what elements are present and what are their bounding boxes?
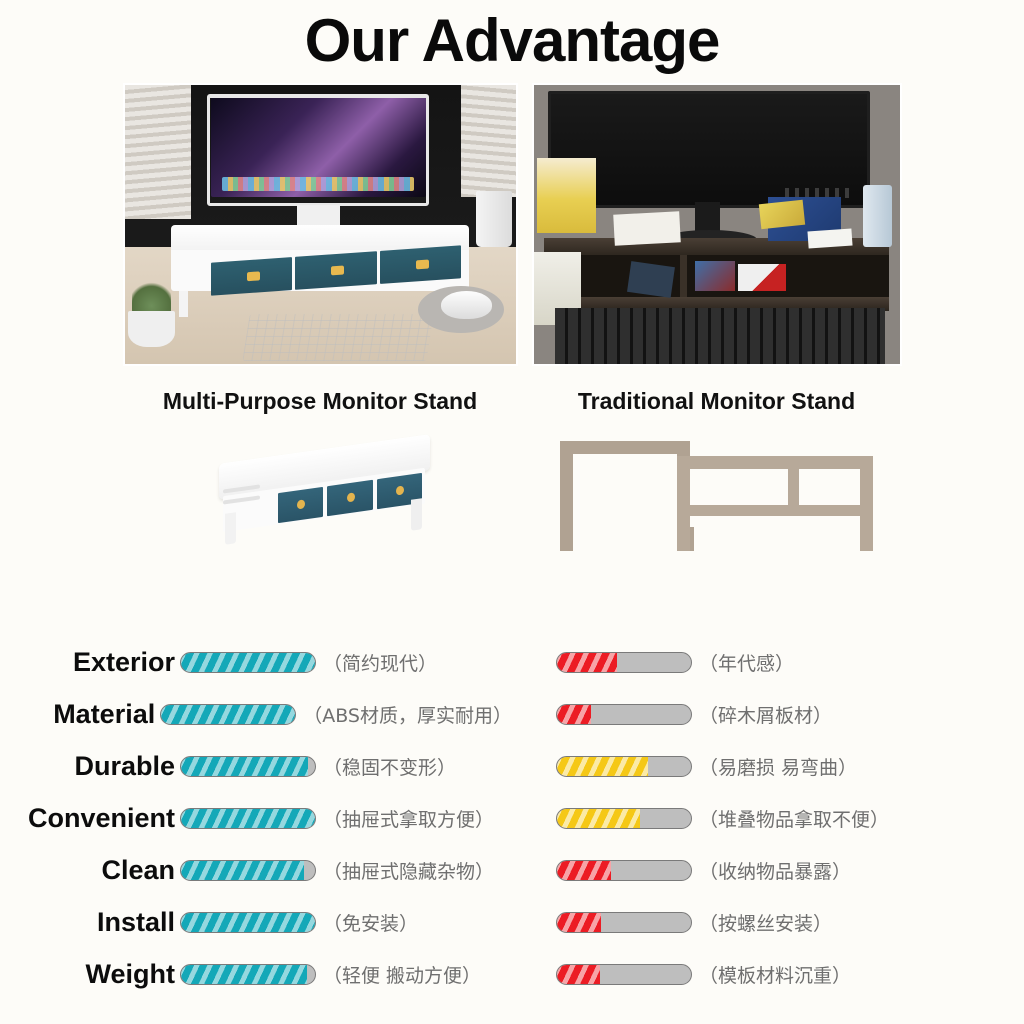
bar-note: （碎木屑板材） [699,701,832,728]
row-label: Install [10,907,180,938]
drawer [295,251,376,290]
bar-fill [557,809,640,828]
bar-fill [161,705,295,724]
frame-small-leg-left [560,527,573,551]
bar-left [180,808,316,829]
frame-small [560,441,690,536]
monitor-neck [297,205,340,227]
bar-fill [181,757,308,776]
plant-pot [128,311,175,347]
white-keyboard [242,314,433,361]
clutter-item [695,261,735,292]
bar-note: （轻便 搬动方便） [323,961,481,988]
comparison-table: Exterior（简约现代）（年代感）Material（ABS材质，厚实耐用）（… [0,636,1024,1000]
bar-note: （年代感） [699,649,794,676]
row-left-cell: Exterior（简约现代） [0,647,512,678]
row-right-cell: （碎木屑板材） [512,701,1024,728]
bar-right [556,808,692,829]
bar-fill [557,965,600,984]
photo-comparison-row [0,83,1024,366]
frame-large-divider [788,456,799,507]
row-label: Exterior [10,647,180,678]
bar-note: （抽屉式拿取方便） [323,805,494,832]
row-right-cell: （年代感） [512,649,1024,676]
bar-left [180,964,316,985]
photo-multipurpose-stand [123,83,518,366]
tube-item [807,229,852,249]
frame-large-leg-left [677,520,690,551]
bar-fill [557,861,611,880]
bar-note: （简约现代） [323,649,437,676]
black-keyboard [555,308,884,364]
row-right-cell: （堆叠物品拿取不便） [512,805,1024,832]
bar-fill [181,809,315,828]
bar-right [556,912,692,933]
drawer [211,257,292,296]
window-blind-right [461,85,516,197]
stand-leg-right [411,498,422,531]
bar-left [180,860,316,881]
bar-right [556,652,692,673]
bar-fill [557,653,617,672]
photo-traditional-stand [532,83,902,366]
comparison-row: Convenient（抽屉式拿取方便）（堆叠物品拿取不便） [0,792,1024,844]
comparison-row: Install（免安装）（按螺丝安装） [0,896,1024,948]
row-right-cell: （模板材料沉重） [512,961,1024,988]
bar-fill [181,913,315,932]
bar-note: （模板材料沉重） [699,961,851,988]
comparison-row: Exterior（简约现代）（年代感） [0,636,1024,688]
bar-fill [181,861,304,880]
row-label: Convenient [10,803,180,834]
row-left-cell: Clean（抽屉式隐藏杂物） [0,855,512,886]
stand-leg-left [225,513,236,546]
bar-note: （抽屉式隐藏杂物） [323,857,494,884]
tissue-box [537,158,596,233]
comparison-row: Material（ABS材质，厚实耐用）（碎木屑板材） [0,688,1024,740]
caption-row: Multi-Purpose Monitor Stand Traditional … [0,388,1024,415]
water-bottle [863,185,892,246]
row-label: Weight [10,959,180,990]
monitor-bezel [207,94,430,206]
bar-left [180,756,316,777]
desk-cup [476,191,511,247]
row-right-cell: （易磨损 易弯曲） [512,753,1024,780]
bar-note: （免安装） [323,909,418,936]
bar-right [556,964,692,985]
caption-traditional: Traditional Monitor Stand [532,388,902,415]
yellow-box [759,200,805,230]
bar-left [180,912,316,933]
comparison-row: Clean（抽屉式隐藏杂物）（收纳物品暴露） [0,844,1024,896]
caption-multipurpose: Multi-Purpose Monitor Stand [123,388,518,415]
bar-note: （按螺丝安装） [699,909,832,936]
bar-fill [557,705,591,724]
window-blind-left [125,85,191,219]
bar-right [556,860,692,881]
row-label: Material [10,699,160,730]
bar-fill [557,757,648,776]
clutter-item [627,261,675,297]
bar-note: （收纳物品暴露） [699,857,851,884]
bar-right [556,756,692,777]
bar-left [180,652,316,673]
row-right-cell: （按螺丝安装） [512,909,1024,936]
bar-right [556,704,692,725]
page-title: Our Advantage [0,0,1024,75]
bar-left [160,704,296,725]
frame-large-leg-right [860,520,873,551]
traditional-stand-graphic [554,441,880,551]
row-left-cell: Install（免安装） [0,907,512,938]
row-right-cell: （收纳物品暴露） [512,857,1024,884]
illustration-multipurpose-stand [123,429,518,579]
bar-fill [181,653,315,672]
black-monitor-screen [548,91,870,208]
bar-fill [181,965,307,984]
loose-papers [613,212,680,246]
frame-large-shelf [677,505,872,516]
illustration-traditional-stand [532,429,902,579]
shelf-divider [680,255,687,297]
bar-note: （稳固不变形） [323,753,456,780]
bar-note: （堆叠物品拿取不便） [699,805,889,832]
bar-note: （ABS材质，厚实耐用） [303,701,512,728]
illustration-row [0,429,1024,579]
drawer [379,245,460,284]
clutter-item [738,264,786,292]
white-stand-graphic [209,439,438,559]
bar-note: （易磨损 易弯曲） [699,753,857,780]
comparison-row: Durable（稳固不变形）（易磨损 易弯曲） [0,740,1024,792]
row-left-cell: Material（ABS材质，厚实耐用） [0,699,512,730]
row-left-cell: Durable（稳固不变形） [0,751,512,782]
comparison-row: Weight（轻便 搬动方便）（模板材料沉重） [0,948,1024,1000]
white-mouse [441,291,492,319]
frame-large [677,456,872,535]
row-label: Clean [10,855,180,886]
row-label: Durable [10,751,180,782]
row-left-cell: Weight（轻便 搬动方便） [0,959,512,990]
bar-fill [557,913,601,932]
row-left-cell: Convenient（抽屉式拿取方便） [0,803,512,834]
